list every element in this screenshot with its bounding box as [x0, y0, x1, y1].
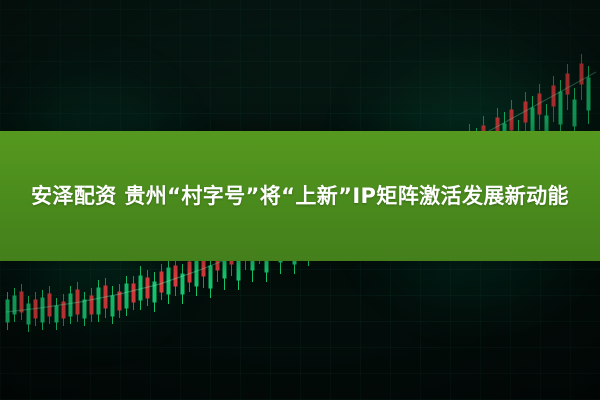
headline-banner: 安泽配资 贵州“村字号”将“上新”IP矩阵激活发展新动能: [0, 131, 600, 261]
headline-title: 安泽配资 贵州“村字号”将“上新”IP矩阵激活发展新动能: [31, 178, 569, 214]
screenshot-canvas: 安泽配资 贵州“村字号”将“上新”IP矩阵激活发展新动能: [0, 0, 600, 400]
